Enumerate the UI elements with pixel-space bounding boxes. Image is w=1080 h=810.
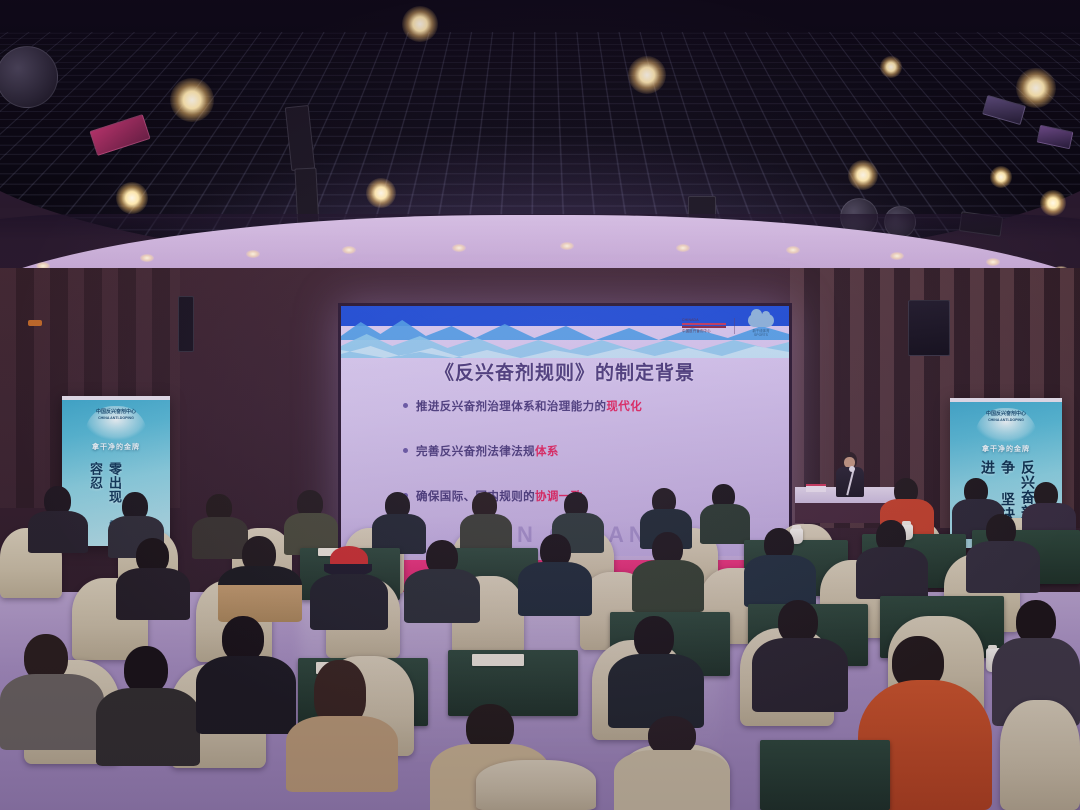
banner-subtitle-left: 拿干净的金牌 [62, 442, 170, 452]
audience-body [404, 569, 480, 623]
banner-emblem-text-left: 中国反兴奋剂中心 CHINA ANTI-DOPING [62, 409, 170, 421]
audience-member [608, 616, 704, 720]
audience-member [518, 534, 592, 612]
microphone-icon [849, 466, 855, 472]
bullet-dot-icon [403, 403, 408, 408]
audience-body [286, 716, 398, 792]
wall-exit-sign [28, 320, 42, 326]
conference-hall-photo: CHINADA 中国反兴奋剂中心 新干线体育 SPORTS 《反兴奋剂规则》的制… [0, 0, 1080, 810]
audience-member [196, 616, 296, 726]
seat [1000, 700, 1080, 810]
recessed-downlight [986, 258, 1000, 266]
seat [476, 760, 596, 810]
audience-member-northface [218, 536, 302, 618]
logo-left-line2: CHINADA [682, 318, 726, 323]
presenter [833, 452, 867, 496]
audience-member [404, 540, 480, 620]
banner-emblem-text-right: 中国反兴奋剂中心 CHINA ANTI-DOPING [950, 411, 1062, 423]
audience-member [116, 538, 190, 616]
audience-body [700, 504, 750, 544]
audience-body [966, 541, 1040, 593]
chinada-logo: CHINADA 中国反兴奋剂中心 [682, 318, 726, 335]
sponsor-logo: 新干线体育 SPORTS [743, 314, 779, 338]
audience-member [966, 514, 1040, 588]
audience-member [614, 716, 730, 810]
logo-divider [734, 318, 735, 334]
bullet-dot-icon [403, 448, 408, 453]
recessed-downlight [786, 246, 800, 254]
slide-logos: CHINADA 中国反兴奋剂中心 新干线体育 SPORTS [682, 314, 779, 338]
audience-member [700, 484, 750, 542]
audience-body [752, 638, 848, 712]
logo-left-line1: 中国反兴奋剂中心 [682, 329, 726, 334]
handout-paper [472, 654, 524, 666]
audience-member [632, 532, 704, 608]
name-card [806, 484, 826, 492]
audience-body [28, 511, 88, 553]
audience-body [310, 574, 388, 630]
audience-body [614, 750, 730, 810]
audience-body [856, 547, 928, 599]
recessed-downlight [140, 254, 154, 262]
audience-body [196, 656, 296, 734]
wall-speaker-right [908, 300, 950, 356]
bullet-text: 完善反兴奋剂法律法规体系 [416, 443, 559, 459]
audience-member [856, 520, 928, 594]
audience-member-long-hair [286, 660, 398, 780]
audience-member [0, 634, 104, 744]
audience-body [116, 568, 190, 620]
bullet-highlight: 现代化 [606, 401, 642, 413]
audience-body [218, 566, 302, 622]
desk [760, 740, 890, 810]
cloud-icon [748, 314, 774, 327]
recessed-downlight [560, 242, 574, 250]
recessed-downlight [452, 244, 466, 252]
audience-head [124, 646, 168, 694]
audience-member [96, 646, 200, 758]
list-item: 推进反兴奋剂治理体系和治理能力的现代化 [403, 398, 767, 414]
wall-speaker-left [178, 296, 194, 352]
recessed-downlight [890, 252, 904, 260]
slide-title: 《反兴奋剂规则》的制定背景 [341, 358, 789, 385]
audience-body [96, 688, 200, 766]
audience-body [632, 560, 704, 612]
logo-bar [682, 323, 726, 325]
bullet-highlight: 体系 [535, 446, 559, 458]
banner-top-rail [950, 398, 1062, 402]
audience-member [752, 600, 848, 702]
audience-member-red-cap [310, 546, 388, 626]
recessed-downlight [676, 244, 690, 252]
list-item: 完善反兴奋剂法律法规体系 [403, 443, 767, 459]
recessed-downlight [246, 250, 260, 258]
audience-body [0, 674, 104, 750]
audience-member [744, 528, 816, 604]
audience-body [518, 562, 592, 616]
banner-subtitle-right: 拿干净的金牌 [950, 444, 1062, 454]
audience-member [28, 486, 88, 550]
banner-top-rail [62, 396, 170, 400]
bullet-text: 推进反兴奋剂治理体系和治理能力的现代化 [416, 398, 642, 414]
recessed-downlight [342, 246, 356, 254]
logo-right-line2: SPORTS [743, 333, 779, 337]
